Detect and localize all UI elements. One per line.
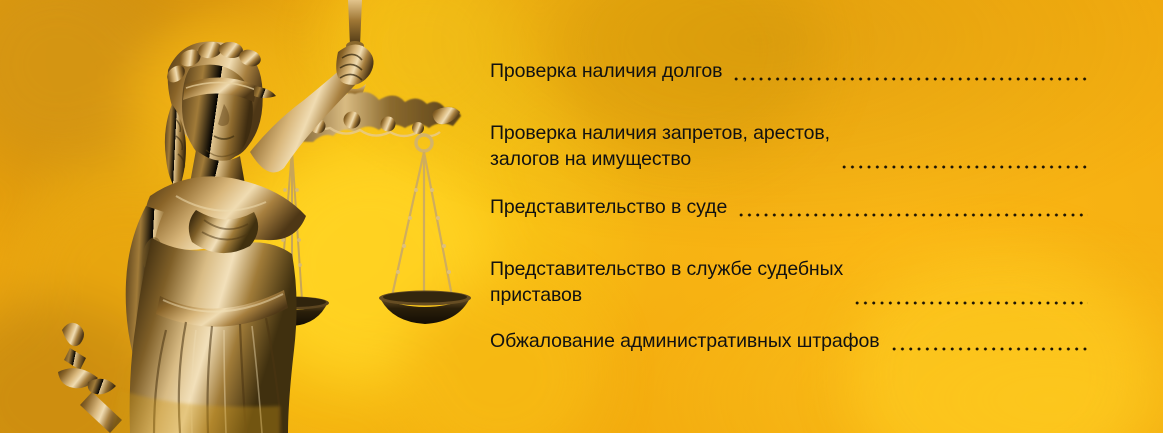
service-label: Проверка наличия долгов	[490, 58, 732, 84]
services-price-list: Проверка наличия долгов 300 руб Проверка…	[490, 0, 1090, 433]
dotted-leader	[890, 332, 1088, 354]
price-row: Представительство в суде	[490, 194, 1090, 220]
price-row: Представительство в службе судебных прис…	[490, 256, 1090, 308]
dotted-leader	[853, 286, 1088, 308]
lady-justice-statue	[0, 0, 480, 433]
price-row: Проверка наличия запретов, арестов, зало…	[490, 120, 1090, 172]
service-label: Представительство в суде	[490, 194, 737, 220]
dotted-leader	[732, 62, 1088, 84]
price-row: Обжалование административных штрафов	[490, 328, 1090, 354]
sword	[58, 323, 122, 433]
service-label: Проверка наличия запретов, арестов, зало…	[490, 120, 840, 172]
price-row: Проверка наличия долгов	[490, 58, 1090, 84]
service-label: Обжалование административных штрафов	[490, 328, 890, 354]
dotted-leader	[840, 150, 1088, 172]
law-services-price-banner: Проверка наличия долгов 300 руб Проверка…	[0, 0, 1163, 433]
dotted-leader	[737, 198, 1088, 220]
service-label: Представительство в службе судебных прис…	[490, 256, 853, 308]
